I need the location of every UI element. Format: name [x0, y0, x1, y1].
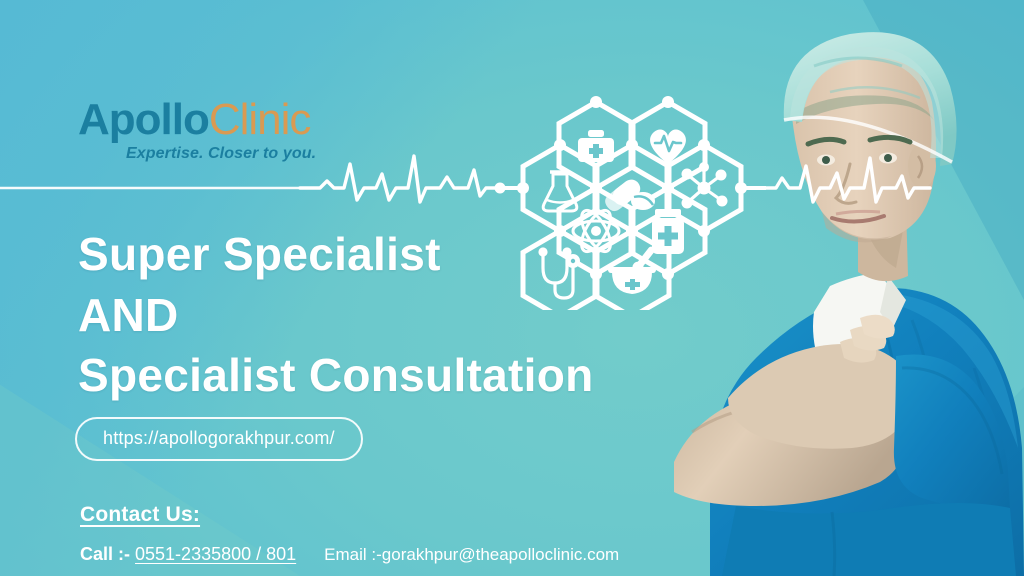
molecule-icon: [682, 162, 728, 209]
neck: [858, 206, 908, 281]
ecg-heartbeat-line-left: [300, 156, 500, 202]
forearm-lower: [674, 387, 903, 506]
collar: [813, 272, 894, 372]
medicine-bottle-icon: [652, 209, 684, 254]
logo-wordmark: ApolloClinic: [78, 98, 316, 142]
sleeve: [894, 354, 1010, 510]
logo-brand-second: Clinic: [209, 95, 311, 144]
background-wedge-top-right: [794, 0, 1024, 300]
contact-title: Contact Us:: [80, 503, 619, 527]
headline-line-3: Specialist Consultation: [78, 345, 594, 406]
website-url-button[interactable]: https://apollogorakhpur.com/: [75, 417, 363, 461]
heart-pulse-icon: [650, 129, 686, 164]
apollo-clinic-logo[interactable]: ApolloClinic Expertise. Closer to you.: [78, 98, 316, 163]
surgical-cap: [784, 32, 957, 166]
headline-line-2: AND: [78, 285, 594, 346]
logo-brand-first: Apollo: [78, 95, 209, 144]
face: [792, 47, 936, 239]
contact-details-row: Call :- 0551-2335800 / 801 Email :-gorak…: [80, 544, 619, 565]
forearm-upper: [728, 344, 912, 449]
flask-icon: [543, 172, 577, 211]
first-aid-kit-icon: [578, 130, 614, 162]
background-wedge-bottom-right: [824, 366, 1024, 576]
contact-section: Contact Us: Call :- 0551-2335800 / 801 E…: [80, 503, 619, 565]
doctor-photo: [644, 0, 1024, 576]
mortar-pestle-icon: [608, 244, 658, 294]
headline-line-1: Super Specialist: [78, 224, 594, 285]
promotional-banner: ApolloClinic Expertise. Closer to you. S…: [0, 0, 1024, 576]
headline: Super Specialist AND Specialist Consulta…: [78, 224, 594, 406]
pills-capsule-icon: [602, 176, 655, 214]
call-label: Call :-: [80, 544, 130, 565]
email-address[interactable]: Email :-gorakhpur@theapolloclinic.com: [324, 545, 619, 565]
phone-number[interactable]: 0551-2335800 / 801: [135, 544, 296, 565]
logo-tagline: Expertise. Closer to you.: [126, 145, 316, 163]
ecg-heartbeat-line-right: [766, 158, 930, 202]
scrub-top: [710, 288, 1024, 576]
scrub-lower: [722, 503, 1016, 576]
